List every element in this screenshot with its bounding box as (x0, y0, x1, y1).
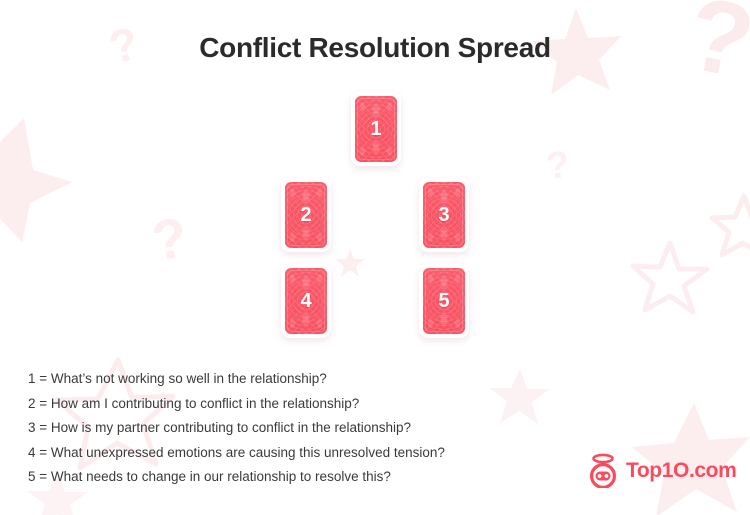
card-number-4: 4 (300, 291, 311, 311)
legend-list: 1 = What’s not working so well in the re… (28, 367, 445, 490)
legend-item-1: 1 = What’s not working so well in the re… (28, 367, 445, 392)
card-face-2: 2 (285, 182, 327, 248)
legend-item-3: 3 = How is my partner contributing to co… (28, 416, 445, 441)
card-3[interactable]: 3 (419, 178, 469, 252)
card-face-3: 3 (423, 182, 465, 248)
card-face-5: 5 (423, 268, 465, 334)
card-face-1: 1 (355, 96, 397, 162)
card-face-4: 4 (285, 268, 327, 334)
card-number-3: 3 (438, 205, 449, 225)
logo-text: Top1O.com (626, 460, 736, 481)
legend-item-4: 4 = What unexpressed emotions are causin… (28, 441, 445, 466)
page-title: Conflict Resolution Spread (0, 32, 750, 64)
card-number-2: 2 (300, 205, 311, 225)
card-1[interactable]: 1 (351, 92, 401, 166)
legend-item-5: 5 = What needs to change in our relation… (28, 465, 445, 490)
card-number-5: 5 (438, 291, 449, 311)
robot-halo-icon (586, 452, 620, 488)
card-4[interactable]: 4 (281, 264, 331, 338)
legend-item-2: 2 = How am I contributing to conflict in… (28, 392, 445, 417)
card-number-1: 1 (370, 119, 381, 139)
card-5[interactable]: 5 (419, 264, 469, 338)
card-2[interactable]: 2 (281, 178, 331, 252)
top10-logo[interactable]: Top1O.com (586, 452, 736, 488)
